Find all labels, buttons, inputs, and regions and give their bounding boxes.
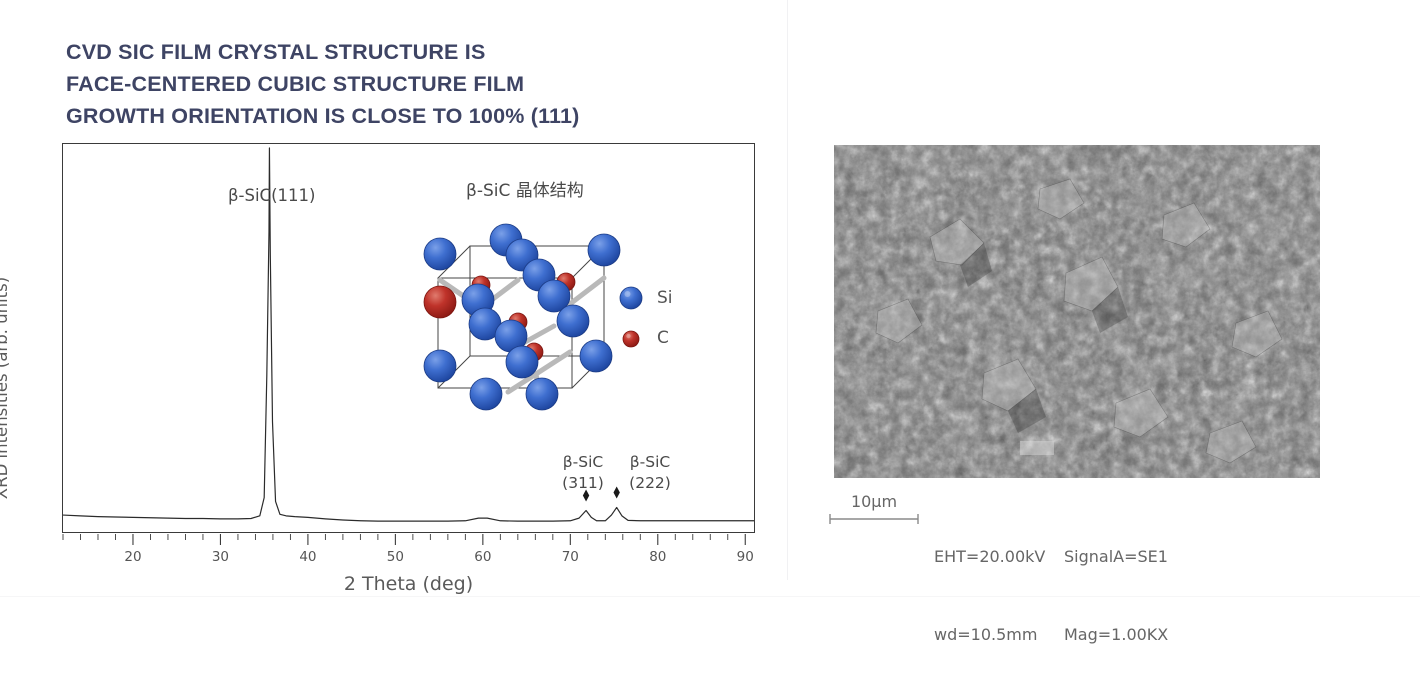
scale-bar: 10μm [828, 492, 920, 525]
page-divider-bottom [0, 596, 1420, 597]
sem-micrograph [834, 145, 1320, 478]
x-axis-ticks [0, 0, 787, 560]
x-tick-label-60: 60 [474, 549, 491, 565]
x-axis-label: 2 Theta (deg) [62, 573, 755, 595]
x-tick-label-40: 40 [299, 549, 316, 565]
scale-bar-label: 10μm [828, 492, 920, 511]
x-tick-label-50: 50 [387, 549, 404, 565]
xrd-chart-panel: CVD SIC FILM CRYSTAL STRUCTURE IS FACE-C… [0, 0, 787, 614]
panel-divider-vertical [787, 0, 788, 580]
sem-meta-signal: SignalA=SE1 [1064, 544, 1168, 570]
x-tick-label-90: 90 [737, 549, 754, 565]
sem-meta-wd: wd=10.5mm [934, 622, 1045, 648]
x-tick-label-70: 70 [562, 549, 579, 565]
sem-meta-mag: Mag=1.00KX [1064, 622, 1168, 648]
scale-bar-line-icon [828, 513, 920, 525]
x-tick-label-30: 30 [212, 549, 229, 565]
x-tick-label-80: 80 [649, 549, 666, 565]
sem-panel: SEM DATA OF CVD SIC FILM, CRYSTAL SIZE O… [787, 0, 1420, 614]
sem-metadata: 10μm EHT=20.00kV wd=10.5mm SignalA=SE1 M… [828, 492, 1308, 544]
sem-micrograph-render [834, 145, 1320, 478]
sem-meta-eht: EHT=20.00kV [934, 544, 1045, 570]
x-tick-label-20: 20 [124, 549, 141, 565]
